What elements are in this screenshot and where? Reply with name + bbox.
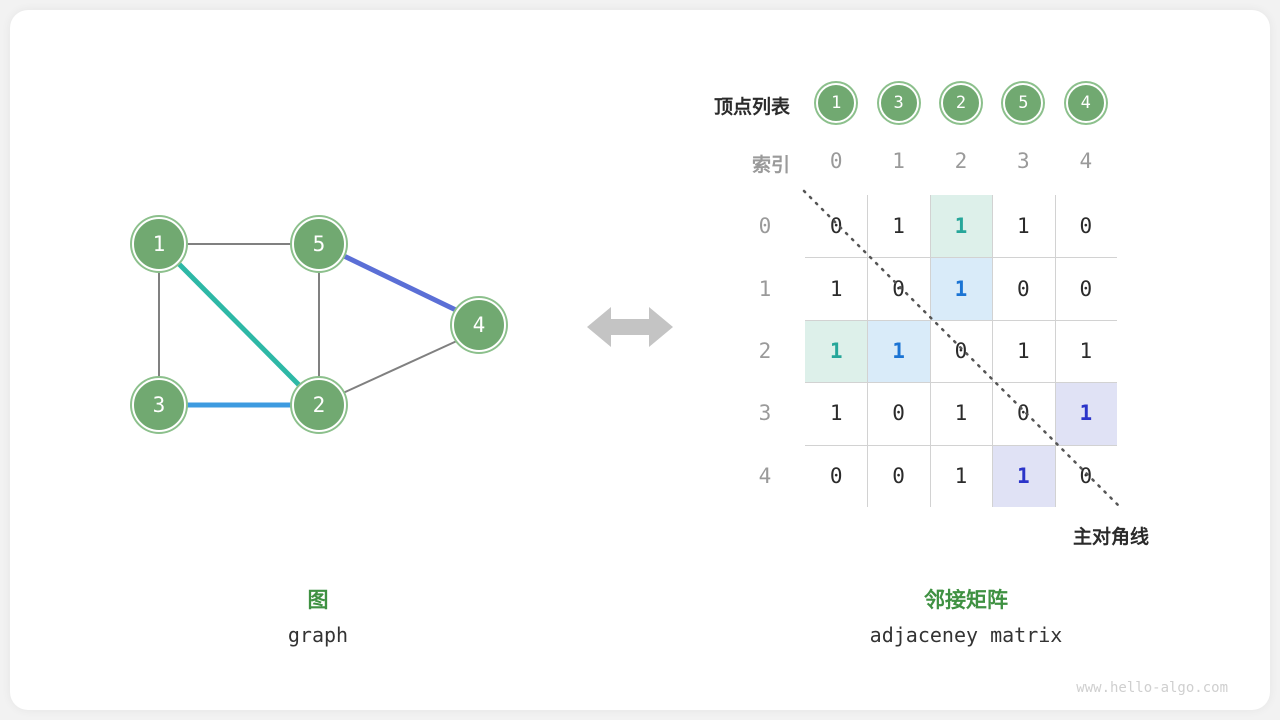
main-diagonal-label: 主对角线 (1073, 522, 1149, 549)
watermark: www.hello-algo.com (1076, 680, 1228, 696)
graph-caption-cn: 图 (258, 584, 378, 614)
row-index-4: 4 (740, 445, 790, 507)
graph-edge-1-2 (178, 263, 301, 387)
col-index-4: 4 (1055, 146, 1117, 176)
row-index-1: 1 (740, 257, 790, 319)
graph-edges (10, 10, 630, 670)
vertex-chip-3[interactable]: 3 (879, 83, 919, 123)
matrix-caption-en: adjaceney matrix (846, 623, 1086, 647)
vertex-chip-2[interactable]: 2 (941, 83, 981, 123)
vertex-list-label: 顶点列表 (610, 92, 790, 119)
screenshot-root: 15432 图 graph 顶点列表 索引 13254 01234 01234 … (0, 0, 1280, 720)
vertex-chip-4[interactable]: 4 (1066, 83, 1106, 123)
graph-node-1[interactable]: 1 (132, 217, 186, 271)
main-diagonal-line (790, 185, 1140, 515)
col-index-3: 3 (992, 146, 1054, 176)
row-index-0: 0 (740, 195, 790, 257)
graph-node-2[interactable]: 2 (292, 378, 346, 432)
content-card: 15432 图 graph 顶点列表 索引 13254 01234 01234 … (10, 10, 1270, 710)
col-index-1: 1 (867, 146, 929, 176)
vertex-chip-1[interactable]: 1 (816, 83, 856, 123)
index-label: 索引 (610, 150, 790, 177)
graph-node-4[interactable]: 4 (452, 298, 506, 352)
col-index-2: 2 (930, 146, 992, 176)
row-index-2: 2 (740, 320, 790, 382)
graph-caption-en: graph (258, 623, 378, 647)
graph-edge-2-4 (343, 340, 459, 393)
graph-node-3[interactable]: 3 (132, 378, 186, 432)
col-index-0: 0 (805, 146, 867, 176)
vertex-chip-5[interactable]: 5 (1003, 83, 1043, 123)
bidirectional-arrow-icon (585, 302, 675, 352)
row-index-3: 3 (740, 382, 790, 444)
graph-node-5[interactable]: 5 (292, 217, 346, 271)
graph-edge-5-4 (344, 256, 460, 312)
matrix-caption-cn: 邻接矩阵 (846, 584, 1086, 614)
